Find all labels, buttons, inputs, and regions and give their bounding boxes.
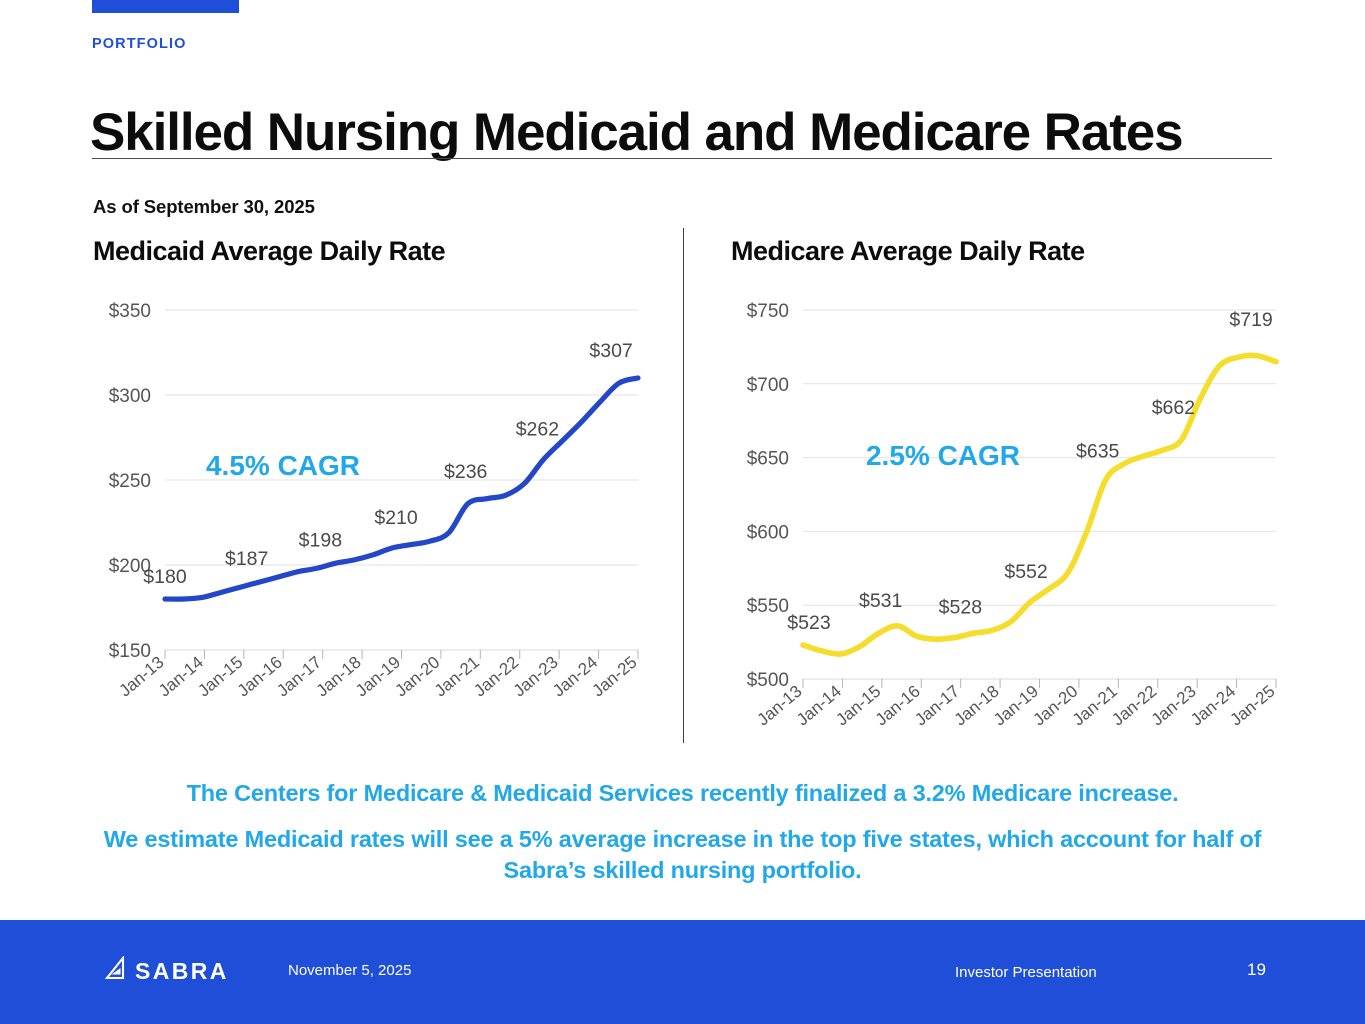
svg-text:Jan-19: Jan-19	[990, 682, 1042, 730]
medicare-plot: $500$550$600$650$700$750Jan-13Jan-14Jan-…	[731, 275, 1291, 745]
svg-text:Jan-20: Jan-20	[1029, 682, 1081, 730]
svg-text:Jan-17: Jan-17	[273, 653, 325, 701]
svg-text:Jan-21: Jan-21	[431, 653, 483, 701]
svg-text:$550: $550	[747, 596, 789, 617]
svg-text:$552: $552	[1004, 561, 1047, 583]
svg-text:Jan-25: Jan-25	[589, 653, 641, 701]
svg-text:$236: $236	[444, 461, 487, 483]
svg-text:$150: $150	[109, 641, 151, 662]
medicaid-plot: $150$200$250$300$350Jan-13Jan-14Jan-15Ja…	[93, 275, 653, 745]
svg-text:$210: $210	[374, 507, 418, 529]
svg-text:Jan-23: Jan-23	[510, 653, 562, 701]
svg-text:$262: $262	[516, 419, 559, 441]
sabra-sail-icon	[104, 956, 128, 987]
svg-text:$662: $662	[1152, 397, 1195, 419]
svg-text:$531: $531	[859, 590, 902, 612]
svg-text:Jan-23: Jan-23	[1148, 682, 1200, 730]
svg-text:$500: $500	[747, 670, 789, 691]
sabra-logo-text: SABRA	[135, 958, 229, 985]
title-divider	[92, 158, 1272, 159]
svg-text:Jan-16: Jan-16	[872, 682, 924, 730]
medicaid-chart-title: Medicaid Average Daily Rate	[93, 236, 653, 267]
svg-text:2.5% CAGR: 2.5% CAGR	[866, 440, 1020, 471]
svg-text:$528: $528	[939, 597, 982, 619]
svg-text:$650: $650	[747, 449, 789, 470]
medicare-chart-panel: Medicare Average Daily Rate $500$550$600…	[731, 236, 1291, 745]
svg-text:$719: $719	[1229, 309, 1272, 331]
callout-block: The Centers for Medicare & Medicaid Serv…	[0, 782, 1365, 886]
svg-text:$198: $198	[299, 529, 342, 551]
svg-text:Jan-22: Jan-22	[1108, 682, 1160, 730]
svg-text:Jan-25: Jan-25	[1227, 682, 1279, 730]
callout-line-1: The Centers for Medicare & Medicaid Serv…	[0, 782, 1365, 806]
svg-text:Axis Title: Axis Title	[367, 743, 435, 745]
sabra-logo: SABRA	[104, 956, 229, 987]
svg-text:$300: $300	[109, 386, 151, 407]
svg-text:$523: $523	[787, 612, 830, 634]
svg-text:$750: $750	[747, 301, 789, 322]
svg-text:Jan-24: Jan-24	[1187, 682, 1239, 730]
svg-text:$635: $635	[1076, 441, 1120, 463]
svg-text:$187: $187	[225, 548, 268, 570]
svg-text:Jan-17: Jan-17	[911, 682, 963, 730]
svg-text:$600: $600	[747, 522, 789, 543]
svg-text:Jan-14: Jan-14	[793, 682, 845, 730]
callout-line-2: We estimate Medicaid rates will see a 5%…	[93, 824, 1273, 886]
accent-bar	[92, 0, 239, 13]
medicare-chart-title: Medicare Average Daily Rate	[731, 236, 1291, 267]
panel-divider	[683, 228, 684, 743]
svg-text:$700: $700	[747, 375, 789, 396]
footer-presentation-label: Investor Presentation	[955, 964, 1097, 981]
footer-page-number: 19	[1247, 960, 1266, 980]
eyebrow-label: PORTFOLIO	[92, 36, 186, 52]
svg-text:Jan-22: Jan-22	[470, 653, 522, 701]
svg-text:Jan-18: Jan-18	[313, 653, 365, 701]
svg-text:Jan-21: Jan-21	[1069, 682, 1121, 730]
svg-text:Jan-16: Jan-16	[234, 653, 286, 701]
svg-text:Jan-18: Jan-18	[951, 682, 1003, 730]
svg-text:Jan-14: Jan-14	[155, 653, 207, 701]
svg-text:$307: $307	[589, 340, 632, 362]
svg-text:Jan-15: Jan-15	[832, 682, 884, 730]
medicaid-chart-panel: Medicaid Average Daily Rate $150$200$250…	[93, 236, 653, 745]
footer-date: November 5, 2025	[288, 962, 411, 979]
svg-text:Jan-24: Jan-24	[549, 653, 601, 701]
svg-text:4.5% CAGR: 4.5% CAGR	[206, 450, 360, 481]
as-of-label: As of September 30, 2025	[93, 196, 315, 218]
svg-text:Jan-20: Jan-20	[391, 653, 443, 701]
svg-text:$180: $180	[143, 566, 187, 588]
svg-text:$250: $250	[109, 471, 151, 492]
svg-text:$350: $350	[109, 301, 151, 322]
svg-text:Jan-19: Jan-19	[352, 653, 404, 701]
svg-text:Jan-15: Jan-15	[194, 653, 246, 701]
page-title: Skilled Nursing Medicaid and Medicare Ra…	[90, 104, 1183, 162]
